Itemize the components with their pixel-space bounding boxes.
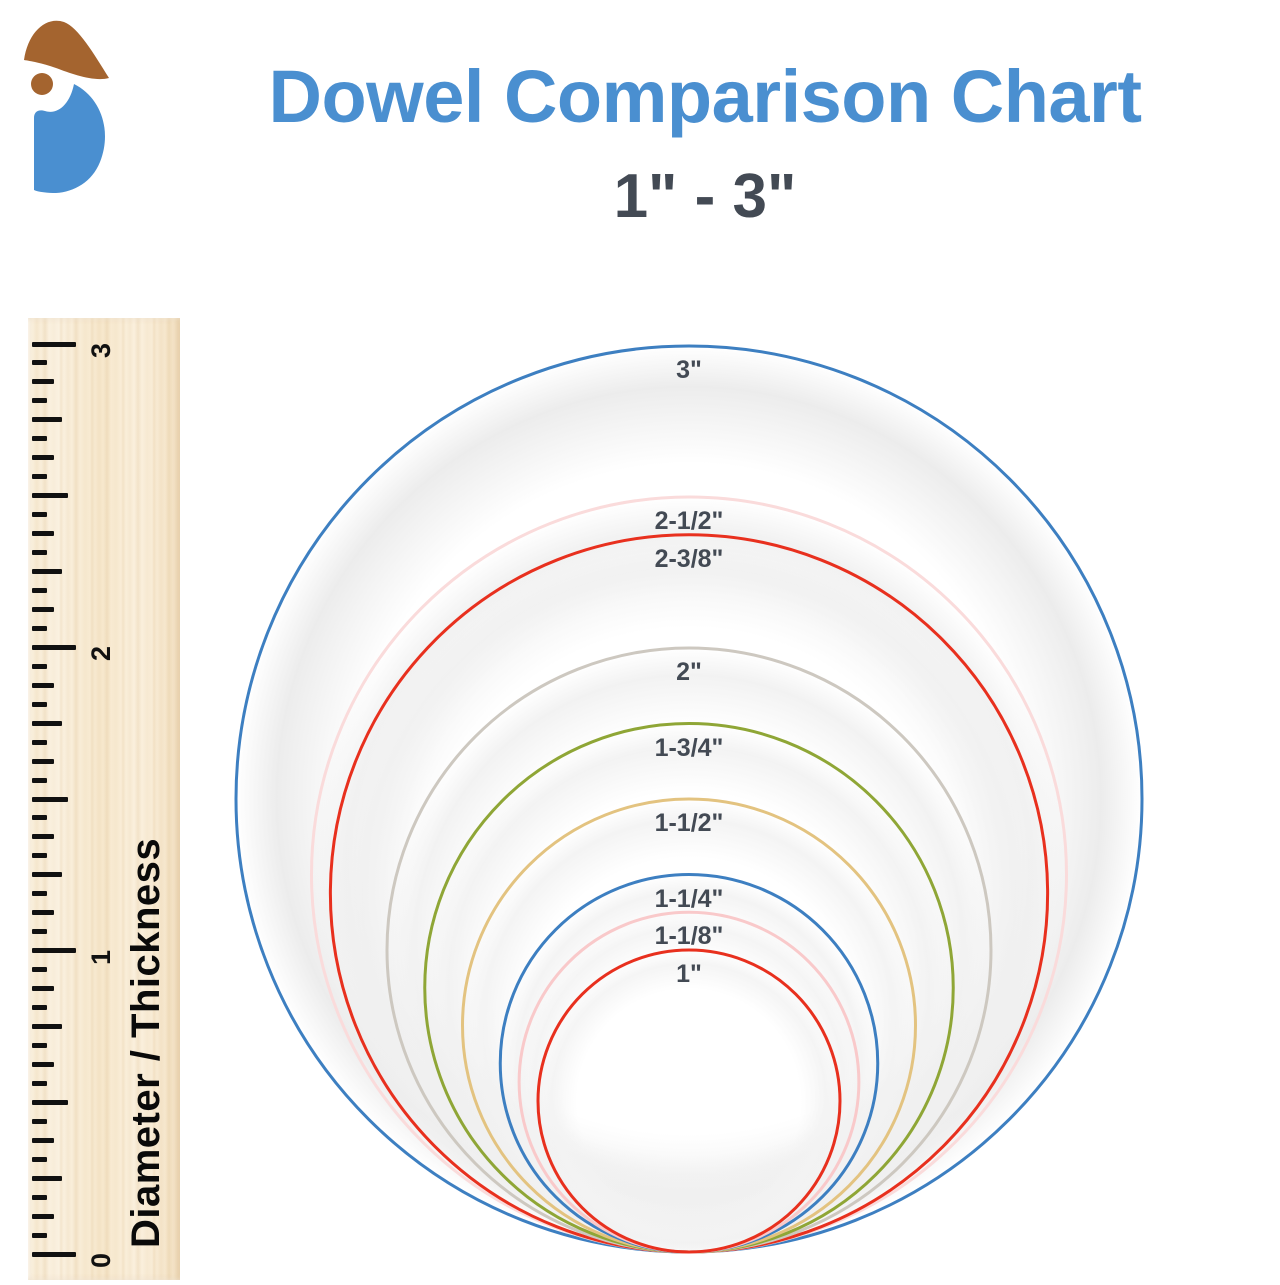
dowel-size-label-2.5: 2-1/2" <box>655 509 724 534</box>
circle-svg-canvas <box>0 0 1280 1280</box>
dowel-size-label-2: 2" <box>676 660 702 685</box>
dowel-circle-glow <box>538 950 840 1252</box>
dowel-size-label-1: 1" <box>676 962 702 987</box>
dowel-size-label-1.75: 1-3/4" <box>655 736 724 761</box>
dowel-size-label-1.25: 1-1/4" <box>655 887 724 912</box>
dowel-size-label-1.5: 1-1/2" <box>655 811 724 836</box>
dowel-size-label-2.375: 2-3/8" <box>655 547 724 572</box>
dowel-size-label-1.125: 1-1/8" <box>655 924 724 949</box>
dowel-size-label-3: 3" <box>676 358 702 383</box>
dowel-circle-chart: 3"2-1/2"2-3/8"2"1-3/4"1-1/2"1-1/4"1-1/8"… <box>0 0 1280 1280</box>
